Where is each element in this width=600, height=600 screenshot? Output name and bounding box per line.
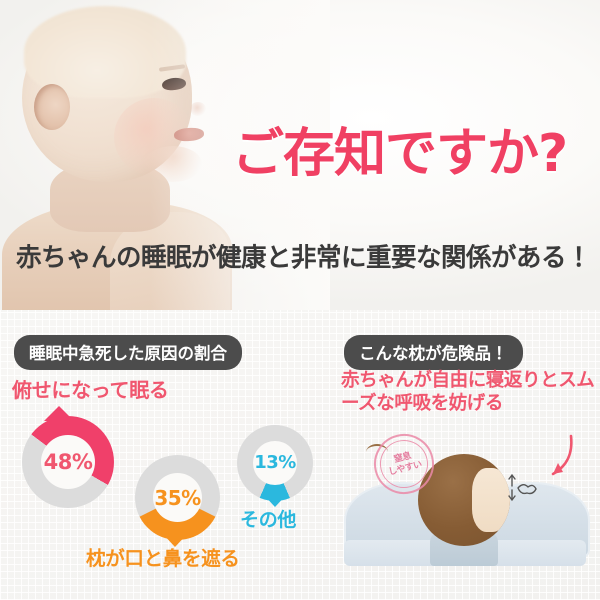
hero-section: ご存知ですか? 赤ちゃんの睡眠が健康と非常に重要な関係がある！ (0, 0, 600, 310)
other-causes-label: その他 (240, 505, 296, 532)
stamp-line-1: 窒息 (393, 451, 412, 466)
donut-chart-48: 48% (22, 416, 114, 508)
pillow-illustration: 窒息 しやすい (330, 430, 595, 580)
donut-chart-35: 35% (135, 455, 220, 540)
right-badge-label: こんな枕が危険品！ (344, 335, 523, 370)
hero-subtitle: 赤ちゃんの睡眠が健康と非常に重要な関係がある！ (16, 246, 591, 272)
infographic-page: ご存知ですか? 赤ちゃんの睡眠が健康と非常に重要な関係がある！ 睡眠中急死した原… (0, 0, 600, 600)
donut-35-value: 35% (154, 488, 200, 508)
left-badge-label: 睡眠中急死した原因の割合 (14, 335, 242, 370)
donut-48-value: 48% (44, 452, 93, 473)
donut-13-center: 13% (253, 441, 297, 485)
donut-48-center: 48% (41, 435, 95, 489)
danger-warning-line2: ーズな呼吸を妨げる (341, 393, 600, 416)
donut-chart-13: 13% (237, 425, 313, 501)
danger-warning-line1: 赤ちゃんが自由に寝返りとスム (341, 370, 600, 393)
donut-13-value: 13% (254, 454, 296, 472)
baby-ear (34, 84, 70, 130)
donut-35-center: 35% (153, 473, 202, 522)
page-title: ご存知ですか? (232, 128, 588, 180)
prone-sleep-label: 俯せになって眠る (12, 374, 169, 403)
danger-warning-text: 赤ちゃんが自由に寝返りとスム ーズな呼吸を妨げる (341, 370, 600, 416)
breathing-blocked-icon (504, 472, 538, 502)
right-badge: こんな枕が危険品！ (344, 335, 523, 370)
left-badge: 睡眠中急死した原因の割合 (14, 335, 242, 370)
pillow-blocks-label: 枕が口と鼻を遮る (86, 542, 240, 571)
stamp-line-2: しやすい (388, 460, 424, 479)
